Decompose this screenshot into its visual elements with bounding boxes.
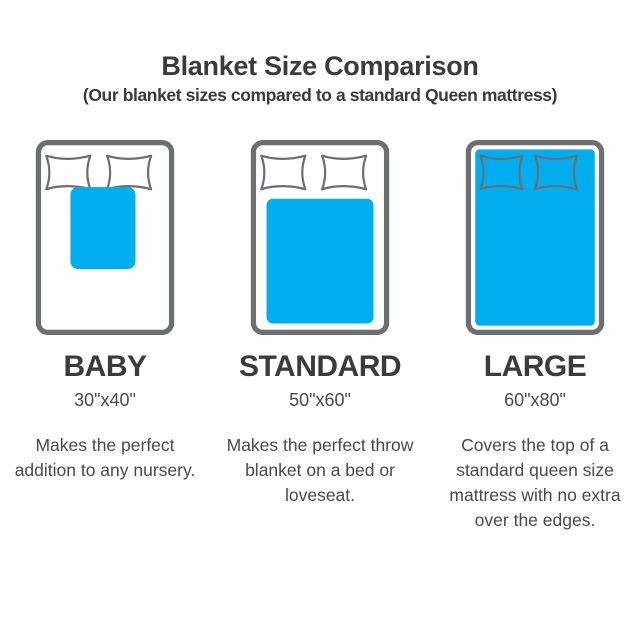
blanket-area <box>70 187 135 269</box>
bed-diagram-baby <box>35 140 175 335</box>
size-column-baby: BABY 30"x40" Makes the perfect addition … <box>0 140 210 483</box>
bed-diagram-large <box>465 140 605 335</box>
size-dimensions-large: 60"x80" <box>504 391 566 409</box>
size-description-standard: Makes the perfect throw blanket on a bed… <box>220 433 420 508</box>
size-name-large: LARGE <box>484 352 587 382</box>
size-dimensions-baby: 30"x40" <box>74 391 136 409</box>
size-comparison-columns: BABY 30"x40" Makes the perfect addition … <box>0 140 640 532</box>
size-dimensions-standard: 50"x60" <box>289 391 351 409</box>
size-column-standard: STANDARD 50"x60" Makes the perfect throw… <box>215 140 425 508</box>
size-description-large: Covers the top of a standard queen size … <box>435 433 635 532</box>
size-name-standard: STANDARD <box>239 352 401 382</box>
infographic-page: Blanket Size Comparison (Our blanket siz… <box>0 0 640 640</box>
page-title: Blanket Size Comparison <box>0 52 640 80</box>
size-column-large: LARGE 60"x80" Covers the top of a standa… <box>430 140 640 532</box>
pillow-right-icon <box>322 156 366 190</box>
bed-diagram-standard <box>250 140 390 335</box>
pillow-right-icon <box>107 156 151 190</box>
page-subtitle: (Our blanket sizes compared to a standar… <box>0 86 640 105</box>
size-name-baby: BABY <box>63 352 146 382</box>
size-description-baby: Makes the perfect addition to any nurser… <box>5 433 205 483</box>
blanket-area <box>267 199 374 324</box>
pillow-left-icon <box>261 156 305 190</box>
header: Blanket Size Comparison (Our blanket siz… <box>0 52 640 106</box>
blanket-area <box>475 149 595 325</box>
pillow-left-icon <box>46 156 90 190</box>
